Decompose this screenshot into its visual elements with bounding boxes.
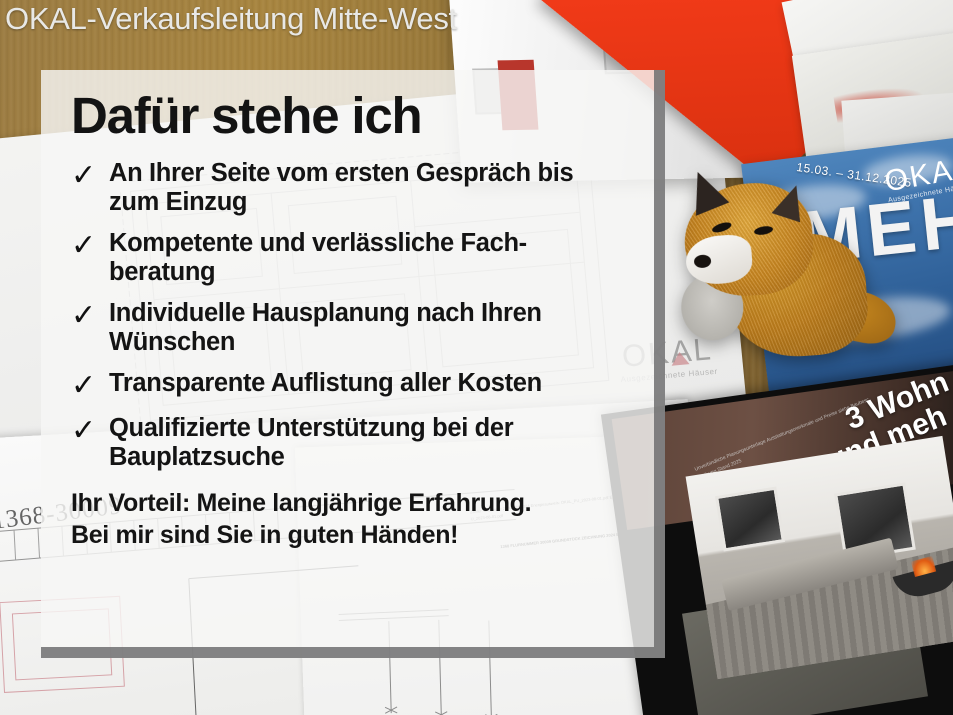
check-icon: ✓	[71, 371, 109, 401]
benefits-list: ✓ An Ihrer Seite vom ersten Gespräch bis…	[71, 159, 638, 471]
list-item-label: An Ihrer Seite vom ersten Gespräch bis z…	[109, 159, 629, 216]
brochure-house-photo	[686, 436, 953, 679]
list-item: ✓ Individuelle Hausplanung nach Ihren Wü…	[71, 299, 638, 356]
photo-window-left	[715, 487, 785, 552]
check-icon: ✓	[71, 231, 109, 261]
panel-heading: Dafür stehe ich	[71, 88, 638, 143]
poster-canvas: 1368-30009 OKAL Ausgezeichnete Häuser Zä…	[0, 0, 953, 715]
list-item: ✓ Kompetente und verlässliche Fach-berat…	[71, 229, 638, 286]
content-panel-inner: Dafür stehe ich ✓ An Ihrer Seite vom ers…	[41, 70, 654, 647]
check-icon: ✓	[71, 301, 109, 331]
fox-plush-toy	[665, 151, 878, 364]
closing-statement: Ihr Vorteil: Meine langjährige Erfahrung…	[71, 487, 638, 551]
list-item-label: Transparente Auflistung aller Kosten	[109, 369, 542, 398]
page-title: OKAL-Verkaufsleitung Mitte-West	[5, 1, 457, 37]
list-item: ✓ Qualifizierte Unterstützung bei der Ba…	[71, 414, 638, 471]
list-item: ✓ Transparente Auflistung aller Kosten	[71, 369, 638, 401]
list-item-label: Individuelle Hausplanung nach Ihren Wüns…	[109, 299, 629, 356]
check-icon: ✓	[71, 416, 109, 446]
list-item-label: Kompetente und verlässliche Fach-beratun…	[109, 229, 629, 286]
content-panel: Dafür stehe ich ✓ An Ihrer Seite vom ers…	[41, 70, 665, 658]
closing-line-2: Bei mir sind Sie in guten Händen!	[71, 519, 638, 551]
list-item: ✓ An Ihrer Seite vom ersten Gespräch bis…	[71, 159, 638, 216]
check-icon: ✓	[71, 161, 109, 191]
closing-line-1: Ihr Vorteil: Meine langjährige Erfahrung…	[71, 487, 638, 519]
list-item-label: Qualifizierte Unterstützung bei der Baup…	[109, 414, 629, 471]
